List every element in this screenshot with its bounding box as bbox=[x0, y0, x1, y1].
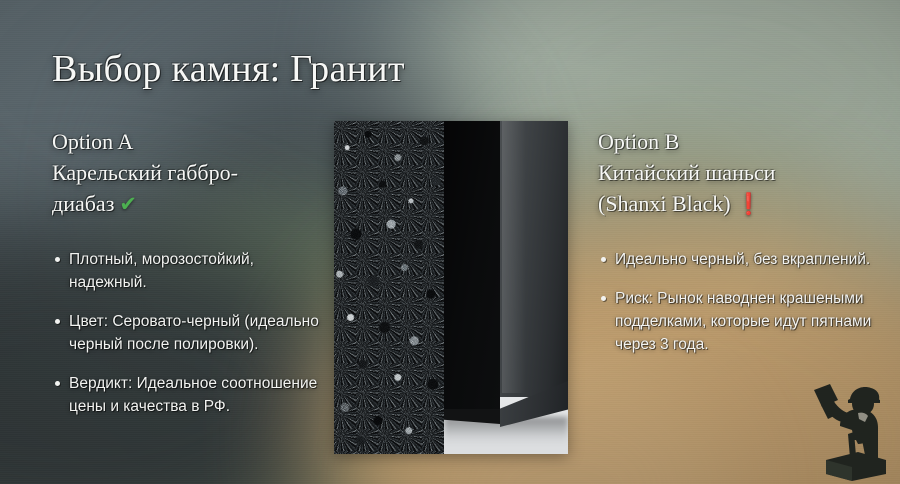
slide-title: Выбор камня: Гранит bbox=[52, 46, 405, 92]
option-b-bullet-list: Идеально черный, без вкраплений. Риск: Р… bbox=[598, 248, 873, 356]
option-b-heading: Option B Китайский шаньси (Shanxi Black)… bbox=[598, 126, 873, 220]
option-a-bullet-list: Плотный, морозостойкий, надежный. Цвет: … bbox=[52, 248, 327, 418]
list-item: Плотный, морозостойкий, надежный. bbox=[52, 248, 327, 294]
granite-slab-sample bbox=[334, 121, 444, 454]
option-a-name-line2-wrap: диабаз✔ bbox=[52, 188, 327, 220]
slide: Выбор камня: Гранит Option A Карельский … bbox=[0, 0, 900, 484]
stonemason-logo-icon bbox=[796, 382, 892, 482]
option-b-name-line1: Китайский шаньси bbox=[598, 157, 873, 188]
check-mark-icon: ✔ bbox=[114, 192, 137, 216]
option-a-column: Option A Карельский габбро- диабаз✔ Плот… bbox=[52, 126, 327, 434]
option-a-label: Option A bbox=[52, 126, 327, 157]
option-b-name-line2-wrap: (Shanxi Black)❗ bbox=[598, 188, 873, 220]
exclamation-mark-icon: ❗ bbox=[731, 192, 762, 216]
list-item: Риск: Рынок наводнен крашеными подделкам… bbox=[598, 287, 873, 356]
list-item: Цвет: Серовато-черный (идеально черный п… bbox=[52, 310, 327, 356]
option-b-column: Option B Китайский шаньси (Shanxi Black)… bbox=[598, 126, 873, 372]
block-sheen bbox=[502, 121, 526, 393]
option-a-name-line1: Карельский габбро- bbox=[52, 157, 327, 188]
granite-comparison-photo bbox=[334, 121, 568, 454]
list-item: Идеально черный, без вкраплений. bbox=[598, 248, 873, 271]
list-item: Вердикт: Идеальное соотношение цены и ка… bbox=[52, 372, 327, 418]
option-a-name-line2: диабаз bbox=[52, 191, 114, 216]
black-granite-block-sample bbox=[444, 121, 568, 454]
option-a-heading: Option A Карельский габбро- диабаз✔ bbox=[52, 126, 327, 220]
block-face-left bbox=[444, 121, 500, 409]
option-b-name-line2: (Shanxi Black) bbox=[598, 191, 731, 216]
option-b-label: Option B bbox=[598, 126, 873, 157]
